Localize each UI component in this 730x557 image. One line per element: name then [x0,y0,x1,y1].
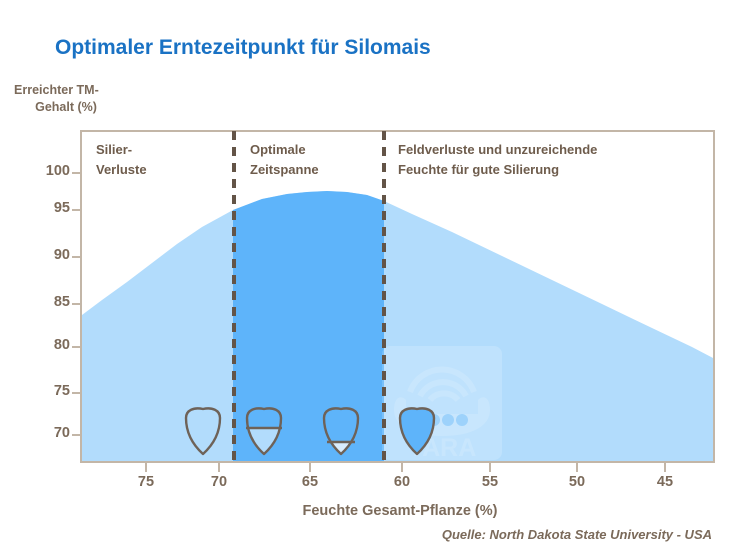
zone-label-field-losses: Feldverluste und unzureichende Feuchte f… [398,140,597,180]
zone-divider-right [382,131,386,463]
x-tick-label-45: 45 [645,474,685,490]
y-tick-label-95: 95 [8,200,70,216]
y-tick-mark-85 [72,303,81,305]
x-tick-mark-50 [576,463,578,472]
y-tick-label-90: 90 [8,247,70,263]
x-tick-mark-45 [664,463,666,472]
x-tick-mark-55 [489,463,491,472]
x-tick-label-60: 60 [382,474,422,490]
x-tick-mark-75 [145,463,147,472]
kernel-icon-milkline-70 [318,404,364,458]
page-title: Optimaler Erntezeitpunkt für Silomais [55,36,431,60]
source-note: Quelle: North Dakota State University - … [442,527,712,542]
y-tick-mark-70 [72,434,81,436]
y-tick-label-100: 100 [8,163,70,179]
x-axis-title: Feuchte Gesamt-Pflanze (%) [0,503,730,519]
x-tick-label-75: 75 [126,474,166,490]
y-tick-label-70: 70 [8,425,70,441]
x-tick-label-70: 70 [199,474,239,490]
y-tick-mark-90 [72,256,81,258]
kernel-icon-full [394,404,440,458]
y-axis-title-line2: Gehalt (%) [14,99,134,116]
y-tick-mark-75 [72,392,81,394]
x-tick-mark-65 [309,463,311,472]
chart-figure: Optimaler Erntezeitpunkt für Silomais Er… [0,0,730,557]
zone-label-optimal-window: Optimale Zeitspanne [250,140,319,180]
x-axis-title-text: Feuchte Gesamt-Pflanze (%) [233,503,498,519]
kernel-icon-no-milkline [180,404,226,458]
y-tick-label-85: 85 [8,294,70,310]
y-tick-mark-80 [72,346,81,348]
x-tick-mark-60 [401,463,403,472]
zone-divider-left [232,131,236,463]
zone-label-silage-losses: Silier- Verluste [96,140,147,180]
x-tick-label-65: 65 [290,474,330,490]
x-tick-label-50: 50 [557,474,597,490]
y-tick-mark-95 [72,209,81,211]
y-axis-title-line1: Erreichter TM- [14,82,134,99]
kernel-icon-milkline-40 [241,404,287,458]
y-axis-title: Erreichter TM- Gehalt (%) [14,82,134,116]
y-tick-label-75: 75 [8,383,70,399]
y-tick-label-80: 80 [8,337,70,353]
x-tick-mark-70 [218,463,220,472]
y-tick-mark-100 [72,172,81,174]
x-tick-label-55: 55 [470,474,510,490]
